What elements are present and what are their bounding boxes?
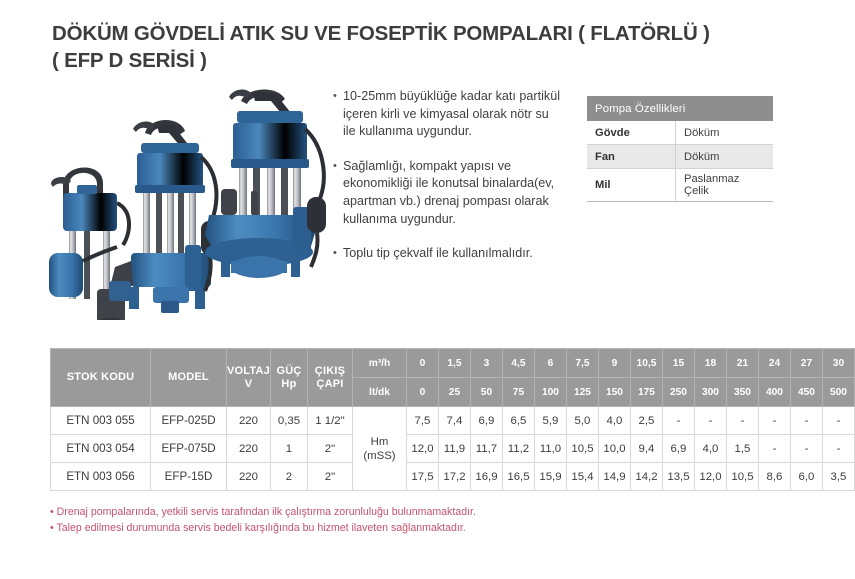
cell-head-value-1: 7,4 [438, 407, 470, 435]
cell-hm-label: Hm(mSS) [352, 407, 406, 491]
cell-stok-kodu: ETN 003 055 [51, 407, 151, 435]
pump-medium-image [109, 120, 219, 313]
header-flow-ltdk-6: 150 [598, 378, 630, 407]
header-flow-ltdk-12: 450 [790, 378, 822, 407]
cell-head-value-9: - [694, 407, 726, 435]
cell-head-value-7: 9,4 [630, 435, 662, 463]
cell-head-value-10: 10,5 [726, 463, 758, 491]
header-cikis-capi: ÇIKIŞÇAPI [307, 349, 352, 407]
header-flow-ltdk-7: 175 [630, 378, 662, 407]
header-flow-m3h-10: 21 [726, 349, 758, 378]
spec-table-row: Gövde Döküm [587, 121, 773, 145]
feature-item-text: 10-25mm büyüklüğe kadar katı partikül iç… [343, 88, 563, 141]
header-flow-m3h-0: 0 [406, 349, 438, 378]
cell-head-value-3: 11,2 [502, 435, 534, 463]
cell-head-value-8: 13,5 [662, 463, 694, 491]
cell-head-value-11: - [758, 407, 790, 435]
header-model: MODEL [151, 349, 227, 407]
cell-head-value-11: 8,6 [758, 463, 790, 491]
cell-head-value-8: - [662, 407, 694, 435]
footnote-item: • Drenaj pompalarında, yetkili servis ta… [50, 504, 650, 520]
cell-head-value-13: - [822, 407, 854, 435]
pump-large-image [205, 89, 326, 278]
footnote-text: Drenaj pompalarında, yetkili servis tara… [57, 506, 476, 518]
header-flow-m3h-12: 27 [790, 349, 822, 378]
cell-head-value-3: 16,5 [502, 463, 534, 491]
table-row: ETN 003 054EFP-075D22012"12,011,911,711,… [51, 435, 855, 463]
cell-head-value-9: 12,0 [694, 463, 726, 491]
cell-head-value-10: 1,5 [726, 435, 758, 463]
cell-voltaj: 220 [227, 407, 271, 435]
spec-key: Mil [587, 169, 676, 202]
cell-head-value-12: - [790, 407, 822, 435]
cell-head-value-4: 15,9 [534, 463, 566, 491]
cell-model: EFP-15D [151, 463, 227, 491]
cell-head-value-7: 14,2 [630, 463, 662, 491]
header-flow-ltdk-4: 100 [534, 378, 566, 407]
cell-model: EFP-075D [151, 435, 227, 463]
header-flow-m3h-8: 15 [662, 349, 694, 378]
header-flow-ltdk-5: 125 [566, 378, 598, 407]
cell-voltaj: 220 [227, 435, 271, 463]
cell-stok-kodu: ETN 003 054 [51, 435, 151, 463]
bullet-icon: • [333, 158, 343, 228]
header-flow-ltdk-8: 250 [662, 378, 694, 407]
cell-head-value-0: 7,5 [406, 407, 438, 435]
footnote-item: • Talep edilmesi durumunda servis bedeli… [50, 520, 650, 536]
header-flow-unit-m3h: m³/h [352, 349, 406, 378]
header-flow-m3h-9: 18 [694, 349, 726, 378]
spec-table-row: Fan Döküm [587, 145, 773, 169]
cell-head-value-8: 6,9 [662, 435, 694, 463]
header-flow-ltdk-3: 75 [502, 378, 534, 407]
cell-head-value-6: 10,0 [598, 435, 630, 463]
feature-list: • 10-25mm büyüklüğe kadar katı partikül … [333, 88, 563, 280]
table-header-row: STOK KODUMODELVOLTAJVGÜÇHpÇIKIŞÇAPIm³/h0… [51, 349, 855, 378]
table-row: ETN 003 055EFP-025D2200,351 1/2"Hm(mSS)7… [51, 407, 855, 435]
cell-head-value-13: 3,5 [822, 463, 854, 491]
cell-head-value-2: 16,9 [470, 463, 502, 491]
cell-head-value-4: 11,0 [534, 435, 566, 463]
footnote-list: • Drenaj pompalarında, yetkili servis ta… [50, 504, 650, 536]
pump-specifications-table: Pompa Özellikleri Gövde Döküm Fan Döküm … [587, 96, 773, 202]
spec-value: Döküm [676, 145, 774, 169]
header-flow-m3h-5: 7,5 [566, 349, 598, 378]
feature-item-text: Toplu tip çekvalf ile kullanılmalıdır. [343, 245, 533, 263]
bullet-icon: • [333, 245, 343, 263]
page-title-line-2: ( EFP D SERİSİ ) [52, 47, 792, 74]
pump-product-photo-group [45, 85, 335, 320]
cell-head-value-6: 14,9 [598, 463, 630, 491]
cell-head-value-13: - [822, 435, 854, 463]
cell-guc: 1 [270, 435, 307, 463]
header-flow-ltdk-11: 400 [758, 378, 790, 407]
header-flow-m3h-2: 3 [470, 349, 502, 378]
spec-key: Fan [587, 145, 676, 169]
header-flow-ltdk-10: 350 [726, 378, 758, 407]
spec-value: Paslanmaz Çelik [676, 169, 774, 202]
header-flow-m3h-6: 9 [598, 349, 630, 378]
cell-head-value-3: 6,5 [502, 407, 534, 435]
cell-head-value-0: 17,5 [406, 463, 438, 491]
header-flow-m3h-7: 10,5 [630, 349, 662, 378]
cell-head-value-4: 5,9 [534, 407, 566, 435]
cell-head-value-7: 2,5 [630, 407, 662, 435]
cell-head-value-12: - [790, 435, 822, 463]
cell-stok-kodu: ETN 003 056 [51, 463, 151, 491]
performance-table: STOK KODUMODELVOLTAJVGÜÇHpÇIKIŞÇAPIm³/h0… [50, 348, 855, 491]
header-flow-m3h-11: 24 [758, 349, 790, 378]
spec-table-header-label: Pompa Özellikleri [587, 96, 773, 121]
cell-head-value-5: 5,0 [566, 407, 598, 435]
header-flow-ltdk-2: 50 [470, 378, 502, 407]
pump-illustrations-svg [45, 85, 335, 320]
header-flow-m3h-13: 30 [822, 349, 854, 378]
cell-head-value-5: 10,5 [566, 435, 598, 463]
cell-head-value-1: 17,2 [438, 463, 470, 491]
page-title-line-1: DÖKÜM GÖVDELİ ATIK SU VE FOSEPTİK POMPAL… [52, 20, 792, 47]
footnote-text: Talep edilmesi durumunda servis bedeli k… [56, 522, 465, 534]
feature-item-text: Sağlamlığı, kompakt yapısı ve ekonomikli… [343, 158, 563, 228]
footnote-bullet-icon: • [50, 506, 54, 518]
header-flow-ltdk-0: 0 [406, 378, 438, 407]
header-flow-ltdk-9: 300 [694, 378, 726, 407]
spec-table-header-row: Pompa Özellikleri [587, 96, 773, 121]
header-flow-m3h-4: 6 [534, 349, 566, 378]
cell-voltaj: 220 [227, 463, 271, 491]
header-flow-ltdk-1: 25 [438, 378, 470, 407]
cell-model: EFP-025D [151, 407, 227, 435]
spec-table-row: Mil Paslanmaz Çelik [587, 169, 773, 202]
header-voltaj: VOLTAJV [227, 349, 271, 407]
spec-value: Döküm [676, 121, 774, 145]
footnote-bullet-icon: • [50, 522, 54, 534]
page-title: DÖKÜM GÖVDELİ ATIK SU VE FOSEPTİK POMPAL… [52, 20, 792, 74]
bullet-icon: • [333, 88, 343, 141]
cell-cikis-capi: 1 1/2" [307, 407, 352, 435]
table-row: ETN 003 056EFP-15D22022"17,517,216,916,5… [51, 463, 855, 491]
cell-cikis-capi: 2" [307, 463, 352, 491]
cell-head-value-5: 15,4 [566, 463, 598, 491]
cell-head-value-11: - [758, 435, 790, 463]
header-flow-ltdk-13: 500 [822, 378, 854, 407]
cell-head-value-10: - [726, 407, 758, 435]
feature-item: • Toplu tip çekvalf ile kullanılmalıdır. [333, 245, 563, 263]
header-guc: GÜÇHp [270, 349, 307, 407]
header-flow-m3h-1: 1,5 [438, 349, 470, 378]
header-flow-unit-ltdk: lt/dk [352, 378, 406, 407]
cell-head-value-2: 6,9 [470, 407, 502, 435]
cell-cikis-capi: 2" [307, 435, 352, 463]
cell-head-value-1: 11,9 [438, 435, 470, 463]
spec-key: Gövde [587, 121, 676, 145]
cell-head-value-9: 4,0 [694, 435, 726, 463]
cell-head-value-12: 6,0 [790, 463, 822, 491]
header-flow-m3h-3: 4,5 [502, 349, 534, 378]
cell-head-value-0: 12,0 [406, 435, 438, 463]
product-datasheet-page: DÖKÜM GÖVDELİ ATIK SU VE FOSEPTİK POMPAL… [0, 0, 855, 579]
feature-item: • 10-25mm büyüklüğe kadar katı partikül … [333, 88, 563, 141]
cell-head-value-2: 11,7 [470, 435, 502, 463]
cell-guc: 0,35 [270, 407, 307, 435]
feature-item: • Sağlamlığı, kompakt yapısı ve ekonomik… [333, 158, 563, 228]
header-stok-kodu: STOK KODU [51, 349, 151, 407]
cell-guc: 2 [270, 463, 307, 491]
cell-head-value-6: 4,0 [598, 407, 630, 435]
